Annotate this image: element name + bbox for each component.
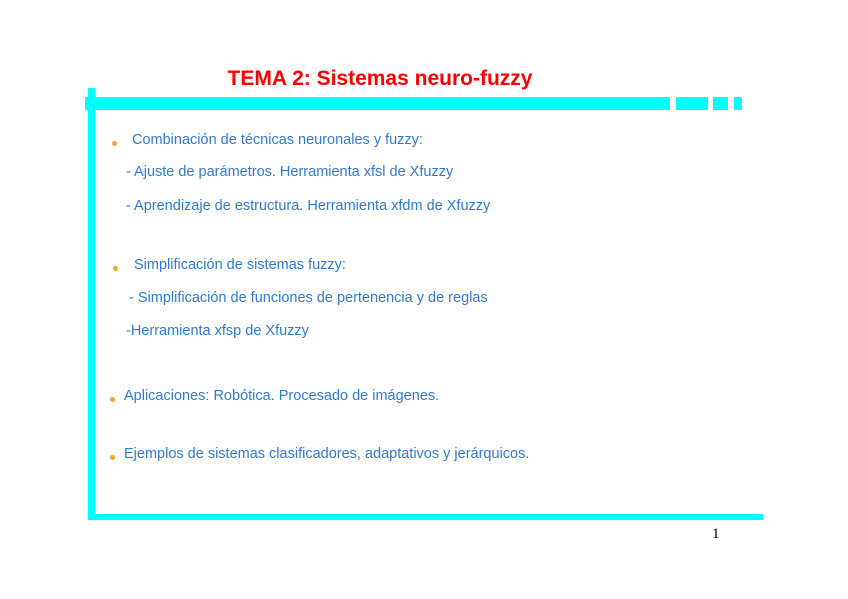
bullet-item-combinacion: Combinación de técnicas neuronales y fuz… xyxy=(132,132,423,148)
bullet-dot-icon xyxy=(112,141,117,146)
bullet-item-simplificacion: Simplificación de sistemas fuzzy: xyxy=(134,257,346,273)
bullet-item-aplicaciones: Aplicaciones: Robótica. Procesado de imá… xyxy=(124,388,439,404)
sub-item-herramienta-xfsp: -Herramienta xfsp de Xfuzzy xyxy=(126,323,309,339)
bullet-item-ejemplos: Ejemplos de sistemas clasificadores, ada… xyxy=(124,446,529,462)
slide-canvas: TEMA 2: Sistemas neuro-fuzzy Combinación… xyxy=(0,0,848,599)
bullet-dot-icon xyxy=(110,455,115,460)
bullet-dot-icon xyxy=(110,397,115,402)
sub-item-aprendizaje-estructura: - Aprendizaje de estructura. Herramienta… xyxy=(126,198,490,214)
sub-item-ajuste-parametros: - Ajuste de parámetros. Herramienta xfsl… xyxy=(126,164,453,180)
bullet-dot-icon xyxy=(113,266,118,271)
slide-body: Combinación de técnicas neuronales y fuz… xyxy=(0,0,848,599)
page-number: 1 xyxy=(712,526,720,543)
sub-item-simplificacion-funciones: - Simplificación de funciones de pertene… xyxy=(129,290,488,306)
